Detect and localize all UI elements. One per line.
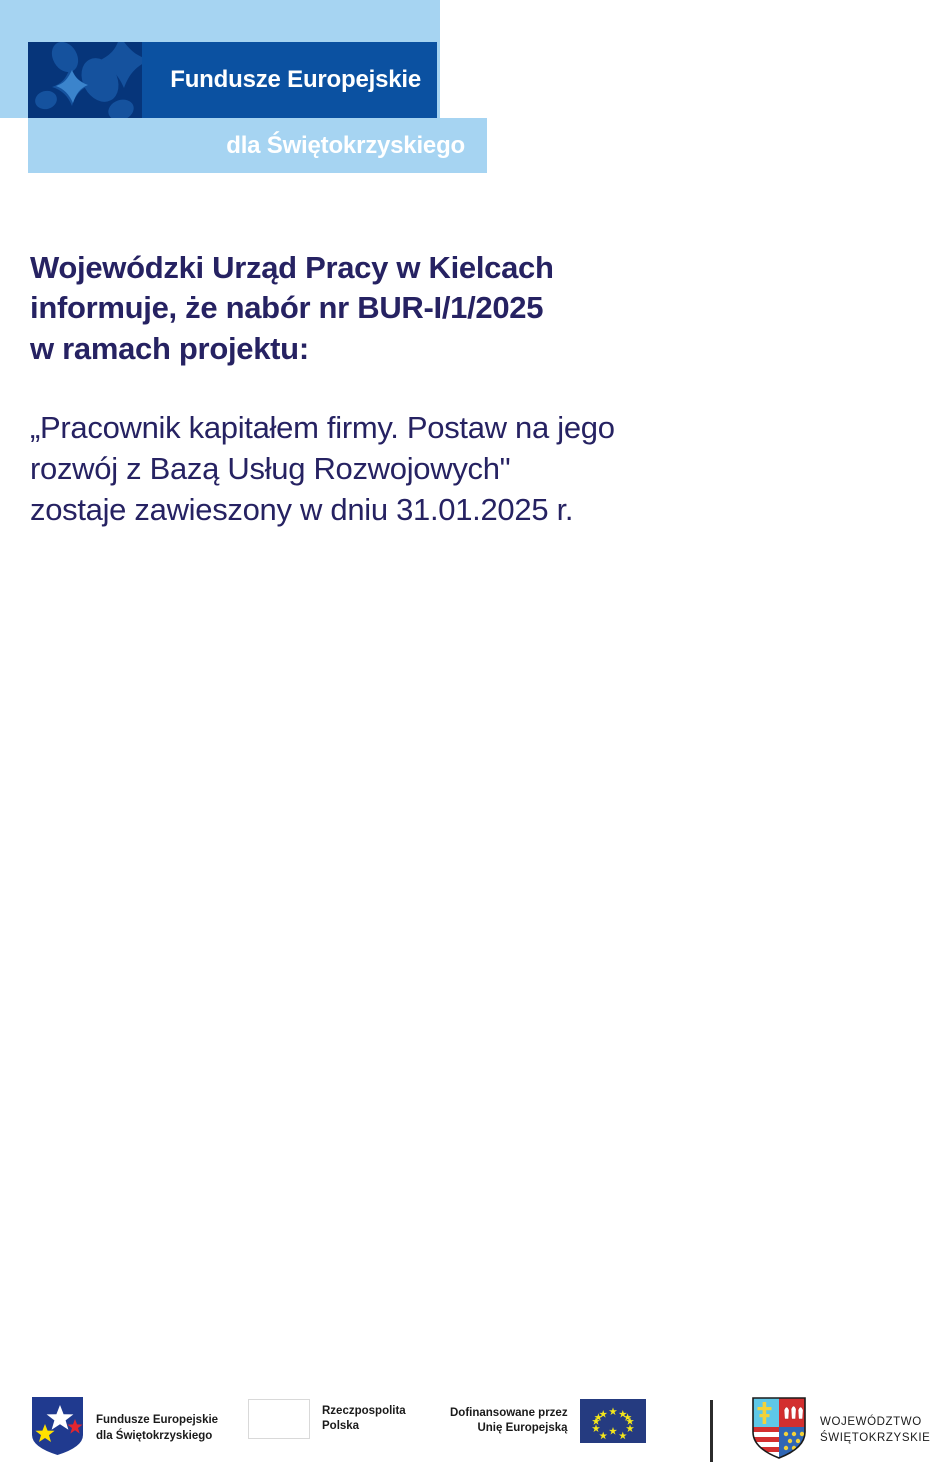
announcement-content: Wojewódzki Urząd Pracy w Kielcach inform… (30, 248, 890, 531)
european-union-flag-icon (580, 1399, 646, 1443)
footer-divider (710, 1400, 713, 1462)
page-title: Wojewódzki Urząd Pracy w Kielcach inform… (30, 248, 890, 369)
footer-logo-strip: Fundusze Europejskie dla Świętokrzyskieg… (0, 688, 940, 788)
eu-funds-stars-icon (30, 1395, 85, 1462)
header-logo-lockup: Fundusze Europejskie dla Świętokrzyskieg… (0, 0, 940, 200)
footer-logo-rzeczpospolita-polska: Rzeczpospolita Polska (248, 1399, 406, 1439)
star-pattern-icon (28, 42, 142, 118)
header-logo-title-bar: Fundusze Europejskie (142, 42, 437, 118)
header-logo-title: Fundusze Europejskie (170, 66, 421, 94)
footer-logo-caption: WOJEWÓDZTWO ŚWIĘTOKRZYSKIE (820, 1415, 930, 1445)
footer-logo-unia-europejska: Dofinansowane przez Unię Europejską (450, 1399, 646, 1443)
poland-flag-icon (248, 1399, 310, 1439)
announcement-body: „Pracownik kapitałem firmy. Postaw na je… (30, 369, 890, 531)
footer-logo-wojewodztwo-swietokrzyskie: WOJEWÓDZTWO ŚWIĘTOKRZYSKIE (750, 1396, 930, 1465)
swietokrzyskie-coat-of-arms-icon (750, 1396, 808, 1465)
footer-logo-caption: Dofinansowane przez Unię Europejską (450, 1406, 568, 1436)
footer-logo-caption: Rzeczpospolita Polska (322, 1404, 406, 1434)
header-logo-subtitle: dla Świętokrzyskiego (28, 118, 465, 173)
footer-logo-caption: Fundusze Europejskie dla Świętokrzyskieg… (96, 1413, 218, 1443)
footer-logo-fundusze-europejskie: Fundusze Europejskie dla Świętokrzyskieg… (30, 1395, 218, 1462)
